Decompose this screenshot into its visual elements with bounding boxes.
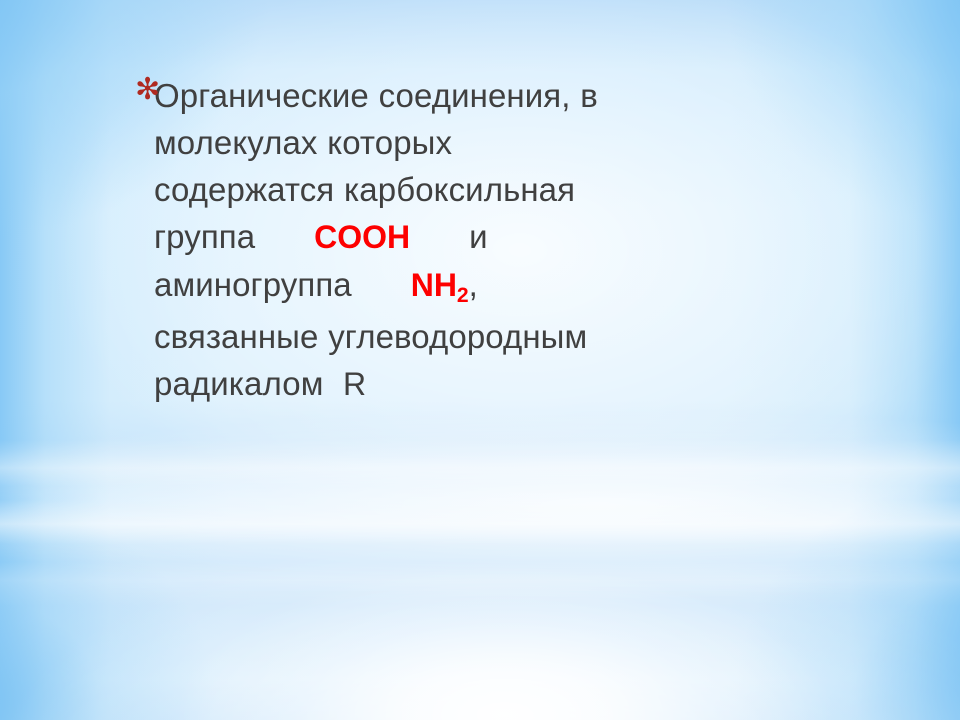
text-line-1: Органические соединения, в xyxy=(154,72,826,119)
text-line-5: аминогруппа NH2, xyxy=(154,261,826,313)
text-line-4: группа COOH и xyxy=(154,213,826,261)
bullet-paragraph[interactable]: ✻ Органические соединения, в молекулах к… xyxy=(126,72,826,408)
body-text-placeholder[interactable]: ✻ Органические соединения, в молекулах к… xyxy=(126,72,826,408)
spacer-2 xyxy=(410,218,469,255)
text-line-2: молекулах которых xyxy=(154,119,826,166)
line-4-suffix: и xyxy=(469,218,488,255)
asterisk-bullet-icon: ✻ xyxy=(135,75,160,105)
spacer-4 xyxy=(323,365,343,402)
text-line-3: содержатся карбоксильная xyxy=(154,166,826,213)
formula-amino-subscript: 2 xyxy=(457,284,469,307)
line-4-prefix: группа xyxy=(154,218,255,255)
formula-amino-group: NH2 xyxy=(411,267,469,303)
formula-carboxyl-group: COOH xyxy=(314,219,410,255)
line-7-prefix: радикалом xyxy=(154,365,323,402)
slide-canvas: ✻ Органические соединения, в молекулах к… xyxy=(0,0,960,720)
line-5-prefix: аминогруппа xyxy=(154,266,352,303)
line-5-suffix: , xyxy=(469,266,478,303)
radical-symbol: R xyxy=(343,366,366,402)
spacer-3 xyxy=(352,266,411,303)
text-line-6: связанные углеводородным xyxy=(154,313,826,360)
spacer-1 xyxy=(255,218,314,255)
text-line-7: радикалом R xyxy=(154,360,826,408)
formula-amino-base: NH xyxy=(411,267,457,303)
